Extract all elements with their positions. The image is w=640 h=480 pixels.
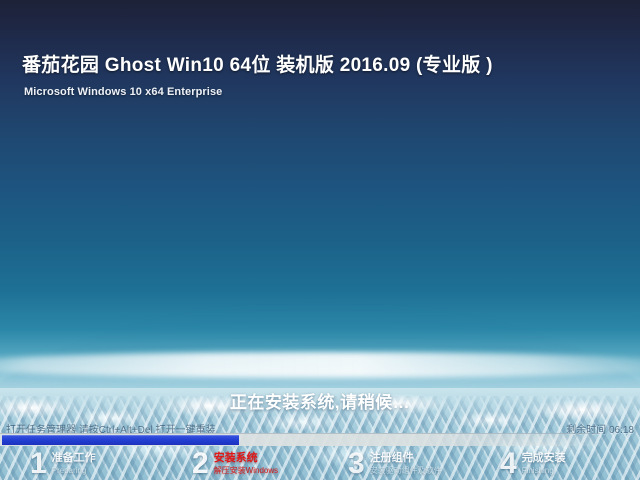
step-sublabel: Preparing (52, 465, 96, 476)
step-sublabel: 安装驱动组件及软件 (370, 465, 442, 476)
step-item-2: 2 安装系统 解压安装Windows (192, 447, 278, 480)
step-label: 注册组件 (370, 452, 442, 465)
step-text: 准备工作 Preparing (52, 452, 96, 476)
step-sublabel: Finishing (522, 465, 566, 476)
step-text: 完成安装 Finishing (522, 452, 566, 476)
step-sublabel: 解压安装Windows (214, 465, 278, 476)
step-item-4: 4 完成安装 Finishing (500, 447, 566, 480)
step-number: 1 (30, 449, 47, 479)
step-item-1: 1 准备工作 Preparing (30, 447, 96, 480)
progress-bar-fill (2, 435, 239, 445)
cloud-streak (0, 352, 640, 378)
step-number: 2 (192, 449, 209, 479)
step-number: 4 (500, 449, 517, 479)
step-label: 安装系统 (214, 452, 278, 465)
page-subtitle: Microsoft Windows 10 x64 Enterprise (24, 86, 222, 98)
step-text: 安装系统 解压安装Windows (214, 452, 278, 476)
step-item-3: 3 注册组件 安装驱动组件及软件 (348, 447, 442, 480)
page-title: 番茄花园 Ghost Win10 64位 装机版 2016.09 (专业版 ) (22, 50, 493, 77)
step-number: 3 (348, 449, 365, 479)
step-label: 准备工作 (52, 452, 96, 465)
installation-steps: 1 准备工作 Preparing 2 安装系统 解压安装Windows 3 注册… (0, 447, 640, 480)
step-label: 完成安装 (522, 452, 566, 465)
status-message: 正在安装系统,请稍候… (0, 388, 640, 413)
installer-screen: 番茄花园 Ghost Win10 64位 装机版 2016.09 (专业版 ) … (0, 0, 640, 480)
step-text: 注册组件 安装驱动组件及软件 (370, 452, 442, 476)
